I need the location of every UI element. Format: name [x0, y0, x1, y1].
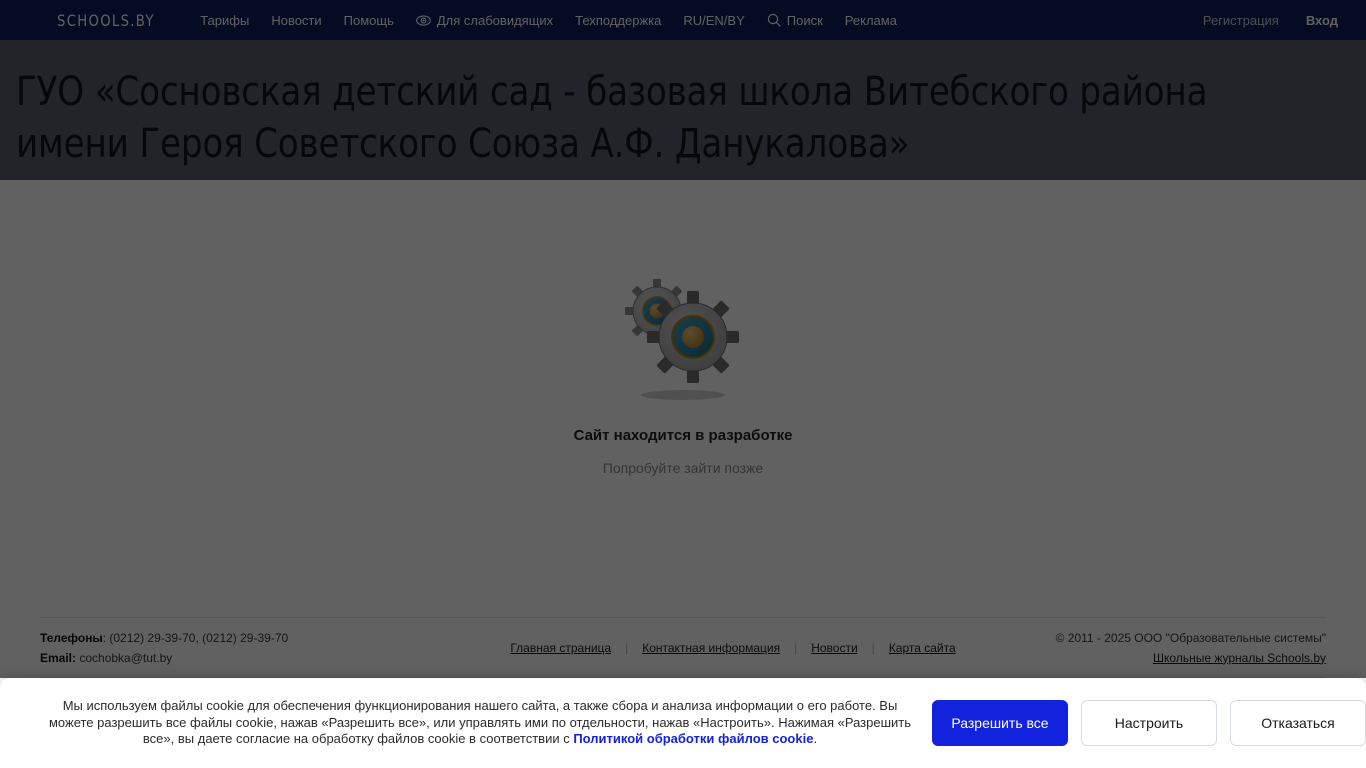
- search-icon: [767, 13, 781, 27]
- eye-icon: [416, 15, 431, 26]
- nav-item-techsupport[interactable]: Техподдержка: [564, 0, 672, 40]
- footer-email-row: Email: cochobka@tut.by: [40, 648, 470, 668]
- nav-label: Поиск: [787, 13, 823, 28]
- nav-label: Новости: [271, 13, 321, 28]
- top-navigation-bar: SCHOOLS.BY Тарифы Новости Помощь Д: [0, 0, 1366, 40]
- school-title: ГУО «Сосновская детский сад - базовая шк…: [16, 66, 1270, 170]
- under-construction-heading: Сайт находится в разработке: [0, 427, 1366, 444]
- footer-link-news[interactable]: Новости: [797, 641, 871, 655]
- footer-email-link[interactable]: cochobka@tut.by: [79, 651, 172, 665]
- nav-label: Тарифы: [200, 13, 249, 28]
- nav-item-language-switcher[interactable]: RU/EN/BY: [672, 0, 755, 40]
- register-link[interactable]: Регистрация: [1192, 0, 1295, 40]
- footer-phones-value: : (0212) 29-39-70, (0212) 29-39-70: [103, 631, 288, 645]
- nav-label: Реклама: [845, 13, 897, 28]
- footer-copyright: © 2011 - 2025 ООО "Образовательные систе…: [996, 628, 1326, 648]
- footer-copyright-block: © 2011 - 2025 ООО "Образовательные систе…: [996, 628, 1326, 668]
- nav-item-search[interactable]: Поиск: [756, 0, 834, 40]
- account-nav: Регистрация Вход: [1192, 0, 1338, 40]
- footer-link-home[interactable]: Главная страница: [496, 641, 625, 655]
- nav-label: Техподдержка: [575, 13, 661, 28]
- page-footer: Телефоны: (0212) 29-39-70, (0212) 29-39-…: [0, 617, 1366, 678]
- footer-link-contacts[interactable]: Контактная информация: [628, 641, 794, 655]
- under-construction-block: Сайт находится в разработке Попробуйте з…: [0, 275, 1366, 476]
- footer-journals-link[interactable]: Школьные журналы Schools.by: [1153, 651, 1326, 665]
- footer-phones-row: Телефоны: (0212) 29-39-70, (0212) 29-39-…: [40, 628, 470, 648]
- decline-cookies-button[interactable]: Отказаться: [1230, 700, 1366, 746]
- footer-link-sitemap[interactable]: Карта сайта: [875, 641, 970, 655]
- cookie-actions: Разрешить все Настроить Отказаться: [932, 700, 1366, 746]
- nav-item-news[interactable]: Новости: [260, 0, 332, 40]
- nav-label: Помощь: [344, 13, 394, 28]
- nav-item-accessibility[interactable]: Для слабовидящих: [405, 0, 564, 40]
- footer-contacts: Телефоны: (0212) 29-39-70, (0212) 29-39-…: [40, 628, 470, 668]
- gears-icon: [613, 275, 753, 405]
- under-construction-subheading: Попробуйте зайти позже: [0, 460, 1366, 476]
- main-nav: Тарифы Новости Помощь Для слабовидящих: [189, 0, 908, 40]
- cookie-consent-bar: Мы используем файлы cookie для обеспечен…: [0, 678, 1366, 768]
- nav-item-advertising[interactable]: Реклама: [834, 0, 908, 40]
- nav-label: Для слабовидящих: [437, 13, 553, 28]
- nav-item-help[interactable]: Помощь: [333, 0, 405, 40]
- cookie-text-part2: .: [813, 731, 817, 746]
- login-link[interactable]: Вход: [1295, 0, 1338, 40]
- footer-links: Главная страница | Контактная информация…: [470, 641, 996, 655]
- school-title-banner: ГУО «Сосновская детский сад - базовая шк…: [0, 40, 1366, 180]
- nav-item-tariffs[interactable]: Тарифы: [189, 0, 260, 40]
- cookie-consent-text: Мы используем файлы cookie для обеспечен…: [40, 698, 920, 748]
- nav-label: RU/EN/BY: [683, 13, 744, 28]
- footer-phones-label: Телефоны: [40, 631, 103, 645]
- page-root: SCHOOLS.BY Тарифы Новости Помощь Д: [0, 0, 1366, 678]
- footer-inner: Телефоны: (0212) 29-39-70, (0212) 29-39-…: [40, 617, 1326, 678]
- allow-all-button[interactable]: Разрешить все: [932, 700, 1068, 746]
- cookie-policy-link[interactable]: Политикой обработки файлов cookie: [573, 731, 813, 746]
- configure-cookies-button[interactable]: Настроить: [1081, 700, 1217, 746]
- schools-by-logo[interactable]: SCHOOLS.BY: [57, 11, 155, 30]
- main-content: Сайт находится в разработке Попробуйте з…: [0, 180, 1366, 617]
- footer-email-label: Email:: [40, 651, 76, 665]
